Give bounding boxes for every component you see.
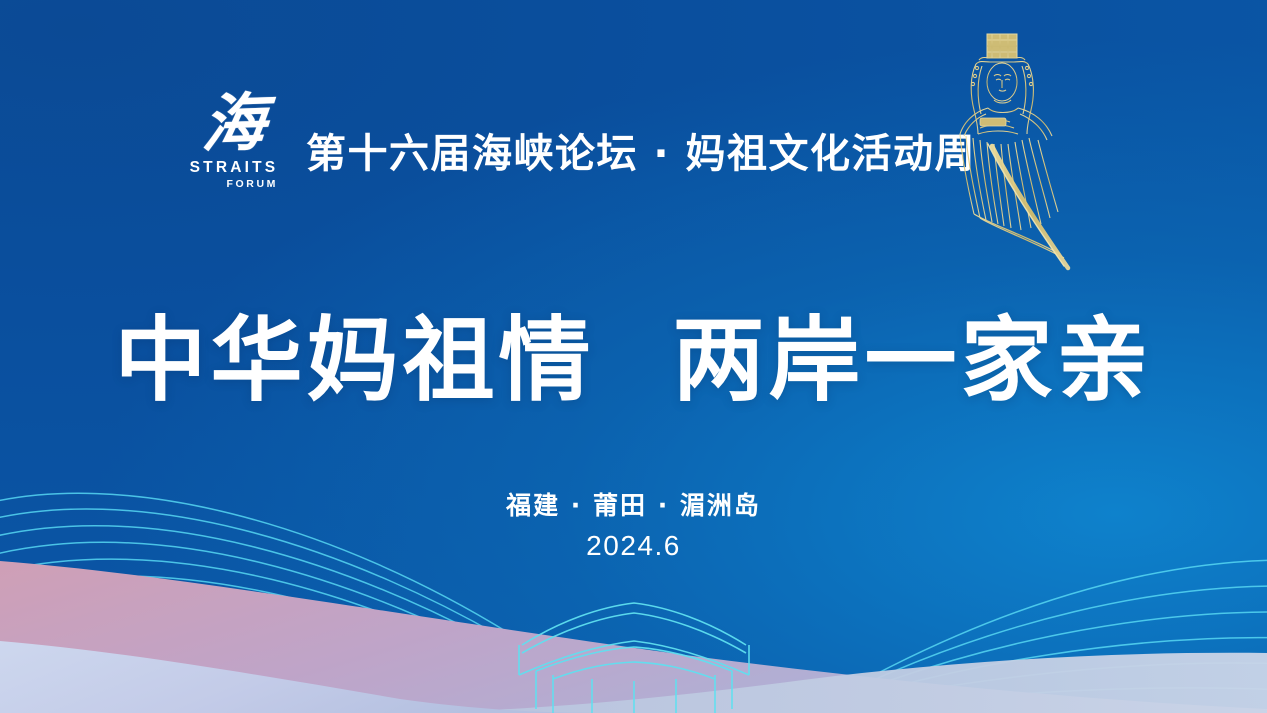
event-title: 第十六届海峡论坛 · 妈祖文化活动周 [306, 121, 976, 179]
poster-canvas: 海 STRAITS FORUM 第十六届海峡论坛 · 妈祖文化活动周 [0, 0, 1267, 713]
logo-straits-text: STRAITS [188, 159, 280, 177]
event-location: 福建 · 莆田 · 湄洲岛 [0, 486, 1267, 522]
header: 海 STRAITS FORUM 第十六届海峡论坛 · 妈祖文化活动周 [188, 92, 976, 204]
temple-archway-outline [519, 603, 749, 713]
hai-calligraphy-logo-icon: 海 [186, 90, 283, 156]
headline-left: 中华妈祖情 [114, 307, 594, 414]
page-title: 中华妈祖情两岸一家亲 [0, 286, 1267, 419]
headline-right: 两岸一家亲 [673, 307, 1153, 414]
event-date: 2024.6 [0, 530, 1267, 562]
logo-forum-text: FORUM [188, 178, 280, 190]
straits-forum-logo: 海 STRAITS FORUM [188, 92, 280, 204]
footer: 福建 · 莆田 · 湄洲岛 2024.6 [0, 486, 1267, 562]
